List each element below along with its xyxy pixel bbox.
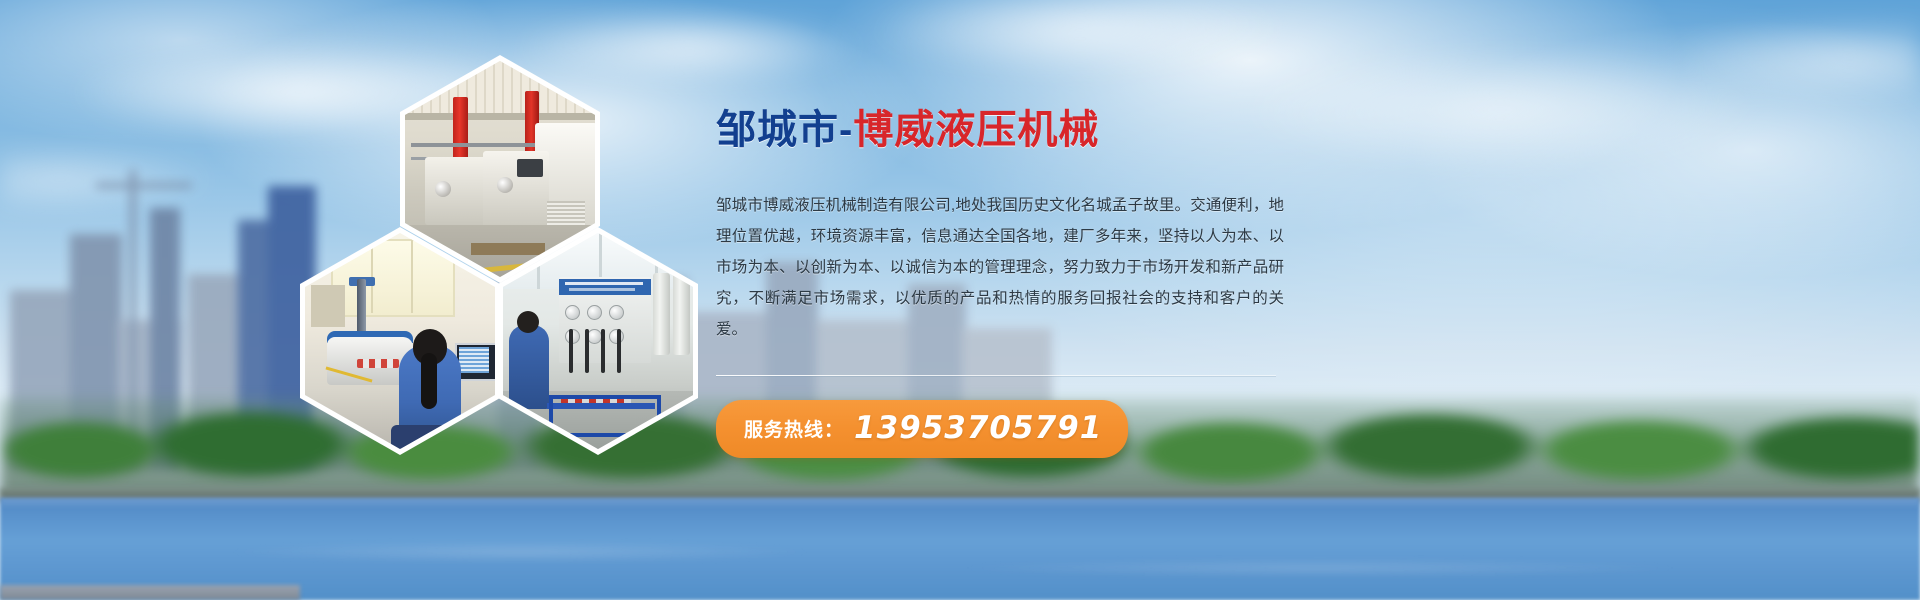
hotline-number: 13953705791 bbox=[854, 410, 1102, 446]
banner-content: 邹城市-博威液压机械 邹城市博威液压机械制造有限公司,地处我国历史文化名城孟子故… bbox=[716, 108, 1296, 458]
hotline-badge[interactable]: 服务热线： 13953705791 bbox=[716, 400, 1128, 458]
photo-hydraulic-test-bench bbox=[503, 233, 693, 449]
crane-arm bbox=[96, 183, 192, 188]
photo-inspection-lab-operator bbox=[305, 233, 495, 449]
photo-cnc-machining-hall bbox=[405, 61, 595, 277]
title-accent: 博威液压机械 bbox=[853, 108, 1099, 152]
company-hero-banner: 邹城市-博威液压机械 邹城市博威液压机械制造有限公司,地处我国历史文化名城孟子故… bbox=[0, 0, 1920, 600]
quay-edge bbox=[0, 585, 300, 600]
page-title: 邹城市-博威液压机械 bbox=[716, 108, 1296, 152]
hexagon-photo-cluster bbox=[300, 55, 700, 445]
company-description: 邹城市博威液压机械制造有限公司,地处我国历史文化名城孟子故里。交通便利，地理位置… bbox=[716, 190, 1284, 345]
content-divider bbox=[716, 375, 1276, 376]
title-primary: 邹城市- bbox=[716, 108, 853, 152]
hotline-label: 服务热线： bbox=[744, 415, 844, 442]
